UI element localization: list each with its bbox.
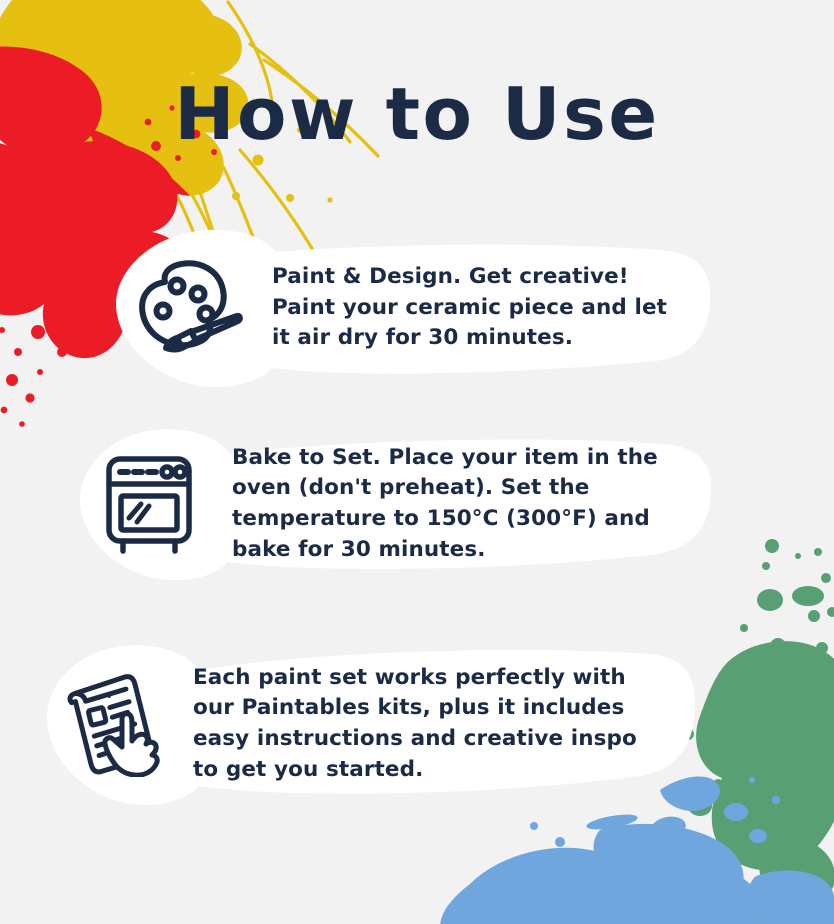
page-title: How to Use [0,78,834,150]
step-card-paint-set-info: Each paint set works perfectly with our … [25,640,697,808]
paint-palette-icon [122,242,254,374]
step-card-paint-and-design: Paint & Design. Get creative! Paint your… [100,228,712,388]
instructions-hand-icon [53,658,175,790]
oven-icon [88,438,210,570]
step-text-paint-and-design: Paint & Design. Get creative! Paint your… [272,262,682,354]
step-text-paint-set-info: Each paint set works perfectly with our … [193,663,655,786]
page-title-container: How to Use [0,78,834,150]
step-text-bake-to-set: Bake to Set. Place your item in the oven… [232,443,677,566]
step-card-bake-to-set: Bake to Set. Place your item in the oven… [58,428,713,580]
